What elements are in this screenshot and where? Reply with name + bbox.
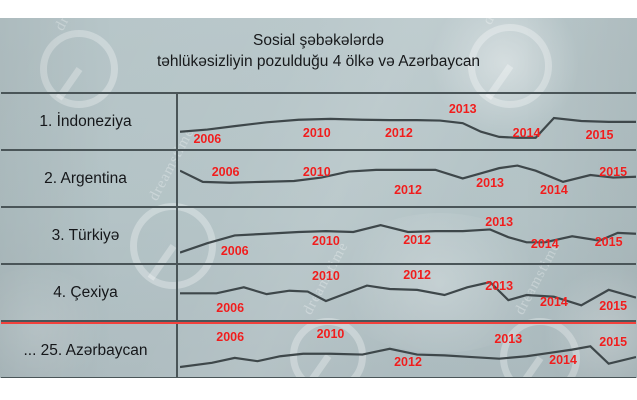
year-label: 2015 (586, 128, 614, 142)
year-label: 2006 (216, 301, 244, 315)
year-label: 2006 (216, 330, 244, 344)
title-line-2: təhlükəsizliyin pozulduğu 4 ölkə və Azər… (0, 51, 637, 72)
year-label: 2010 (303, 126, 331, 140)
table-row: 1. İndoneziya200620102012201320142015 (1, 94, 636, 151)
year-label: 2015 (599, 299, 627, 313)
year-label: 2012 (394, 183, 422, 197)
year-label: 2010 (317, 327, 345, 341)
sparkline-path (180, 166, 636, 183)
country-label: 2. Argentina (1, 151, 178, 206)
year-label: 2010 (303, 165, 331, 179)
watermark-text: dreamstime (480, 18, 533, 28)
year-label: 2013 (494, 332, 522, 346)
country-label: 3. Türkiyə (1, 208, 178, 263)
slide-panel: dreamstime dreamstime dreamstime dreamst… (0, 18, 637, 378)
year-label: 2014 (549, 353, 577, 367)
table-row: 3. Türkiyə200620102012201320142015 (1, 208, 636, 265)
year-label: 2013 (449, 102, 477, 116)
year-label: 2010 (312, 269, 340, 283)
slide-stage: dreamstime dreamstime dreamstime dreamst… (0, 0, 637, 400)
country-label: 4. Çexiya (1, 265, 178, 320)
year-label: 2015 (599, 165, 627, 179)
year-label: 2012 (394, 355, 422, 369)
year-label: 2015 (595, 235, 623, 249)
year-label: 2015 (599, 335, 627, 349)
table-row: 2. Argentina200620102012201320142015 (1, 151, 636, 208)
sparkline-chart: 200620102012201320142015 (180, 324, 636, 377)
table-row: 4. Çexiya201020122006201320142015 (1, 265, 636, 322)
country-label: ... 25. Azərbaycan (1, 324, 178, 377)
bottom-white-band (0, 378, 637, 400)
year-label: 2012 (403, 268, 431, 282)
year-label: 2014 (513, 126, 541, 140)
year-label: 2014 (540, 295, 568, 309)
country-label: 1. İndoneziya (1, 94, 178, 149)
year-label: 2013 (485, 279, 513, 293)
country-rows-table: 1. İndoneziya2006201020122013201420152. … (1, 92, 636, 378)
year-label: 2014 (540, 183, 568, 197)
year-label: 2012 (403, 233, 431, 247)
year-label: 2013 (476, 176, 504, 190)
table-row: ... 25. Azərbaycan2006201020122013201420… (1, 322, 636, 378)
year-label: 2014 (531, 237, 559, 251)
sparkline-chart: 200620102012201320142015 (180, 94, 636, 149)
sparkline-chart: 200620102012201320142015 (180, 208, 636, 263)
sparkline-chart: 201020122006201320142015 (180, 265, 636, 320)
year-label: 2006 (221, 244, 249, 258)
sparkline-chart: 200620102012201320142015 (180, 151, 636, 206)
year-label: 2010 (312, 234, 340, 248)
year-label: 2012 (385, 126, 413, 140)
title-line-1: Sosial şəbəkələrdə (0, 30, 637, 51)
page-title: Sosial şəbəkələrdə təhlükəsizliyin pozul… (0, 30, 637, 72)
top-white-band (0, 0, 637, 18)
year-label: 2006 (212, 165, 240, 179)
year-label: 2006 (193, 132, 221, 146)
year-label: 2013 (485, 215, 513, 229)
